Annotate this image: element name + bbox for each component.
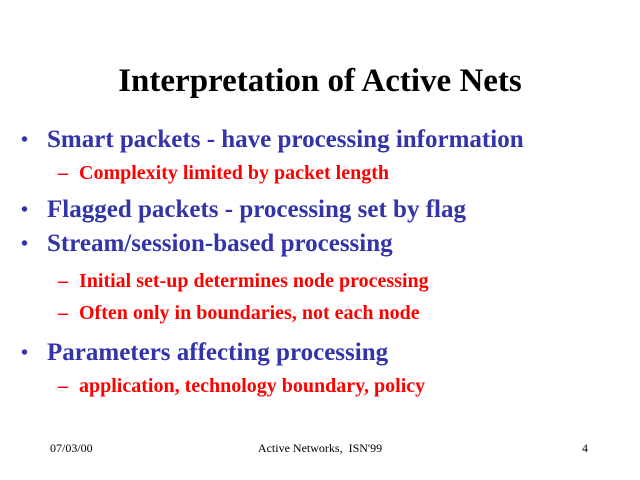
bullet-text: Flagged packets - processing set by flag <box>47 196 466 223</box>
bullet-dot-icon: • <box>21 337 41 369</box>
bullet-text: Often only in boundaries, not each node <box>79 302 420 324</box>
bullet-item-level1: • Parameters affecting processing <box>0 337 640 369</box>
bullet-dot-icon: • <box>21 194 41 226</box>
footer-page-number: 4 <box>582 438 588 458</box>
bullet-item-level2: – Complexity limited by packet length <box>0 158 640 188</box>
bullet-item-level1: • Smart packets - have processing inform… <box>0 124 640 156</box>
bullet-text: application, technology boundary, policy <box>79 375 425 397</box>
bullet-item-level1: • Flagged packets - processing set by fl… <box>0 194 640 226</box>
footer-conference-label: Active Networks, ISN'99 <box>0 438 640 458</box>
bullet-item-level2: – Initial set-up determines node process… <box>0 266 640 296</box>
bullet-text: Complexity limited by packet length <box>79 162 389 184</box>
bullet-dash-icon: – <box>58 158 78 188</box>
page-title: Interpretation of Active Nets <box>0 62 640 100</box>
bullet-list: • Smart packets - have processing inform… <box>0 124 640 401</box>
slide-canvas: Interpretation of Active Nets • Smart pa… <box>0 0 640 480</box>
slide-footer: 07/03/00 Active Networks, ISN'99 4 <box>0 438 640 458</box>
bullet-item-level2: – Often only in boundaries, not each nod… <box>0 298 640 328</box>
bullet-dash-icon: – <box>58 298 78 328</box>
bullet-dot-icon: • <box>21 228 41 260</box>
bullet-dash-icon: – <box>58 266 78 296</box>
bullet-text: Smart packets - have processing informat… <box>47 126 524 153</box>
bullet-dash-icon: – <box>58 371 78 401</box>
bullet-text: Stream/session-based processing <box>47 230 393 257</box>
bullet-item-level1: • Stream/session-based processing <box>0 228 640 260</box>
bullet-text: Parameters affecting processing <box>47 339 388 366</box>
bullet-dot-icon: • <box>21 124 41 156</box>
bullet-text: Initial set-up determines node processin… <box>79 270 429 292</box>
bullet-item-level2: – application, technology boundary, poli… <box>0 371 640 401</box>
